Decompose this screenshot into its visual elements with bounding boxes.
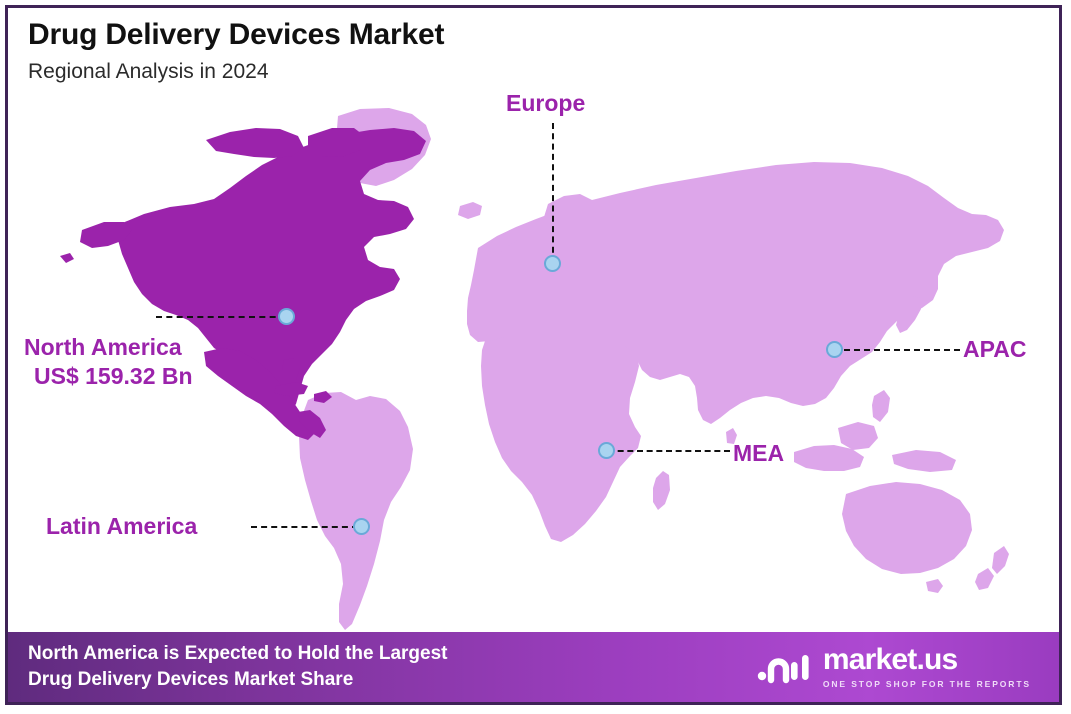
map-marker-mea[interactable] xyxy=(598,442,615,459)
madagascar-shape xyxy=(653,471,670,510)
region-label-europe[interactable]: Europe xyxy=(506,90,585,116)
canadian-arctic-shape xyxy=(206,128,304,158)
banner-line-1: North America is Expected to Hold the La… xyxy=(28,641,448,667)
infographic-frame: Drug Delivery Devices Market Regional An… xyxy=(5,5,1062,705)
leader-line-mea xyxy=(608,450,730,452)
tasmania-shape xyxy=(926,579,943,593)
header: Drug Delivery Devices Market Regional An… xyxy=(28,18,444,84)
leader-line-north-america xyxy=(156,316,286,318)
region-label-north-america[interactable]: North America US$ 159.32 Bn xyxy=(24,334,193,390)
bottom-banner: North America is Expected to Hold the La… xyxy=(8,632,1059,702)
leader-line-europe xyxy=(552,123,554,263)
bar-chart-mark-icon xyxy=(757,650,813,684)
region-label-mea[interactable]: MEA xyxy=(733,440,784,466)
leader-line-latin-america xyxy=(251,526,358,528)
banner-headline: North America is Expected to Hold the La… xyxy=(28,641,448,692)
borneo-shape xyxy=(838,422,878,450)
logo-tagline: ONE STOP SHOP FOR THE REPORTS xyxy=(823,679,1031,689)
region-label-latin-america[interactable]: Latin America xyxy=(46,513,197,539)
region-label-apac[interactable]: APAC xyxy=(963,336,1026,362)
north-america-value: US$ 159.32 Bn xyxy=(34,363,193,389)
market-us-logo[interactable]: market.us ONE STOP SHOP FOR THE REPORTS xyxy=(757,645,1031,689)
page-title: Drug Delivery Devices Market xyxy=(28,18,444,52)
aleutian-islands-shape xyxy=(60,253,74,263)
new-zealand-south-shape xyxy=(975,568,994,590)
map-marker-apac[interactable] xyxy=(826,341,843,358)
page-subtitle: Regional Analysis in 2024 xyxy=(28,60,444,84)
philippines-shape xyxy=(872,390,890,422)
australia-shape xyxy=(842,482,972,574)
banner-line-2: Drug Delivery Devices Market Share xyxy=(28,667,448,693)
africa-shape xyxy=(481,322,641,542)
new-guinea-shape xyxy=(892,450,956,472)
new-zealand-shape xyxy=(992,546,1009,574)
map-marker-europe[interactable] xyxy=(544,255,561,272)
leader-line-apac xyxy=(834,349,960,351)
map-marker-latin-america[interactable] xyxy=(353,518,370,535)
logo-wordmark: market.us xyxy=(823,645,958,675)
north-america-name: North America xyxy=(24,334,182,360)
map-marker-north-america[interactable] xyxy=(278,308,295,325)
iceland-shape xyxy=(458,202,482,219)
map-base-continents xyxy=(299,108,1009,630)
